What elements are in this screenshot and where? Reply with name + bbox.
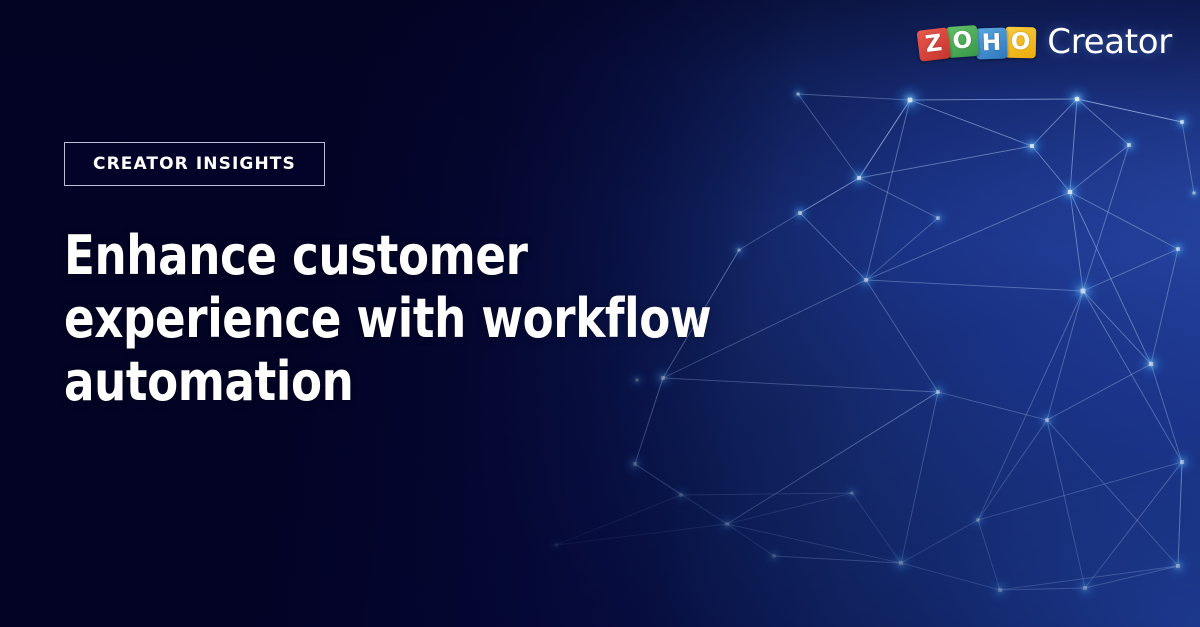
network-edge: [866, 100, 910, 280]
network-node: [936, 390, 940, 394]
network-node: [1045, 418, 1049, 422]
network-edge: [901, 392, 938, 563]
network-node: [1180, 120, 1184, 124]
network-node: [1176, 247, 1180, 251]
zoho-tile-h: H: [976, 27, 1008, 59]
network-edge: [910, 100, 1032, 146]
zoho-creator-logo[interactable]: Z O H O Creator: [918, 22, 1172, 62]
network-node: [936, 216, 939, 219]
network-node: [633, 462, 637, 466]
network-node: [976, 518, 979, 521]
network-edge: [1083, 291, 1182, 462]
network-node: [554, 543, 557, 546]
network-node: [998, 588, 1002, 592]
network-node: [1192, 191, 1195, 194]
network-edge: [978, 462, 1182, 520]
network-node: [899, 561, 903, 565]
network-edge: [1070, 192, 1178, 249]
network-edge: [727, 524, 901, 563]
network-node: [1030, 144, 1034, 148]
network-edge: [910, 99, 1077, 100]
zoho-tile-z: Z: [917, 27, 952, 62]
zoho-creator-banner: Z O H O Creator CREATOR INSIGHTS Enhance…: [0, 0, 1200, 627]
network-edge: [866, 192, 1070, 280]
network-node: [1081, 289, 1086, 294]
network-node: [1149, 362, 1153, 366]
network-node: [1083, 586, 1087, 590]
network-edge: [859, 146, 1032, 178]
creator-insights-badge: CREATOR INSIGHTS: [64, 142, 325, 186]
network-edge: [978, 420, 1047, 520]
network-node: [1075, 97, 1079, 101]
zoho-tile-o2: O: [1005, 26, 1037, 58]
network-edge: [1047, 420, 1085, 588]
network-node: [725, 522, 729, 526]
network-node: [1180, 460, 1184, 464]
network-edge: [1047, 364, 1151, 420]
network-edge: [1151, 249, 1178, 364]
network-node: [1068, 190, 1072, 194]
creator-wordmark: Creator: [1047, 22, 1172, 62]
network-node: [679, 493, 682, 496]
network-edge: [774, 556, 901, 563]
network-edge: [681, 493, 852, 495]
network-edge: [1047, 291, 1083, 420]
page-title: Enhance customer experience with workflo…: [64, 224, 752, 414]
network-node: [796, 92, 799, 95]
network-node: [1176, 564, 1180, 568]
network-edge: [727, 493, 852, 524]
network-node: [1127, 143, 1131, 147]
zoho-tile-o1: O: [946, 24, 979, 57]
network-node-glow: [1182, 181, 1200, 206]
network-edge: [866, 280, 1083, 291]
zoho-logo-tiles: Z O H O: [918, 27, 1034, 58]
network-node: [772, 554, 775, 557]
network-node: [908, 98, 913, 103]
network-node: [850, 491, 853, 494]
network-edge: [978, 291, 1083, 520]
banner-content: CREATOR INSIGHTS Enhance customer experi…: [64, 142, 804, 414]
network-node: [864, 278, 868, 282]
network-node: [857, 176, 861, 180]
network-edge: [866, 280, 938, 392]
